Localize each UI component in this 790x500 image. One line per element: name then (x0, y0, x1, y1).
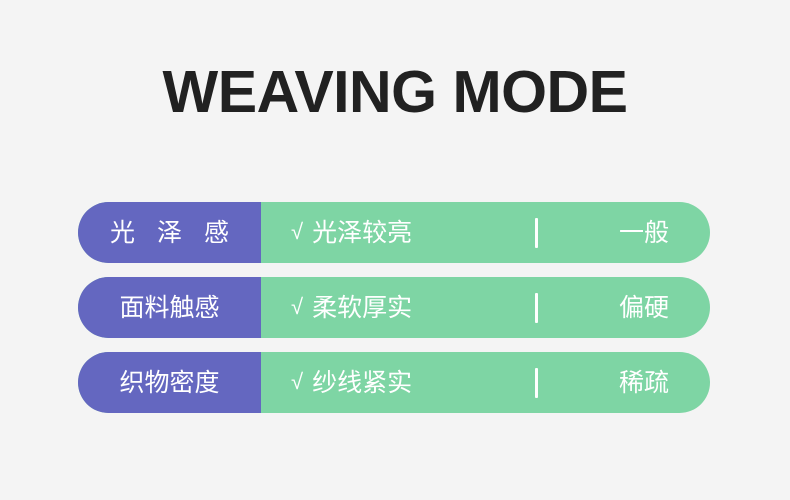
comparison-row-label: 面料触感 (78, 277, 261, 338)
option-alternate[interactable]: 一般 (599, 218, 689, 248)
option-selected[interactable]: √ 纱线紧实 (291, 368, 412, 398)
option-divider (535, 218, 538, 248)
comparison-row-options: √ 光泽较亮 一般 (261, 202, 710, 263)
comparison-row-options: √ 柔软厚实 偏硬 (261, 277, 710, 338)
option-selected[interactable]: √ 柔软厚实 (291, 293, 412, 323)
page-title: WEAVING MODE (0, 60, 790, 124)
comparison-row-label: 光 泽 感 (78, 202, 261, 263)
option-divider (535, 293, 538, 323)
check-icon: √ (291, 220, 303, 246)
check-icon: √ (291, 295, 303, 321)
comparison-row: 光 泽 感 √ 光泽较亮 一般 (78, 202, 710, 263)
option-selected-label: 光泽较亮 (312, 218, 412, 248)
check-icon: √ (291, 370, 303, 396)
page-root: WEAVING MODE 光 泽 感 √ 光泽较亮 一般 面料触感 √ 柔软厚实 (0, 0, 790, 500)
comparison-row-label: 织物密度 (78, 352, 261, 413)
comparison-list: 光 泽 感 √ 光泽较亮 一般 面料触感 √ 柔软厚实 偏硬 (78, 202, 710, 413)
option-selected-label: 柔软厚实 (312, 293, 412, 323)
comparison-row-options: √ 纱线紧实 稀疏 (261, 352, 710, 413)
option-alternate[interactable]: 偏硬 (599, 293, 689, 323)
option-divider (535, 368, 538, 398)
comparison-row: 织物密度 √ 纱线紧实 稀疏 (78, 352, 710, 413)
comparison-row: 面料触感 √ 柔软厚实 偏硬 (78, 277, 710, 338)
option-selected-label: 纱线紧实 (312, 368, 412, 398)
option-alternate[interactable]: 稀疏 (599, 368, 689, 398)
option-selected[interactable]: √ 光泽较亮 (291, 218, 412, 248)
